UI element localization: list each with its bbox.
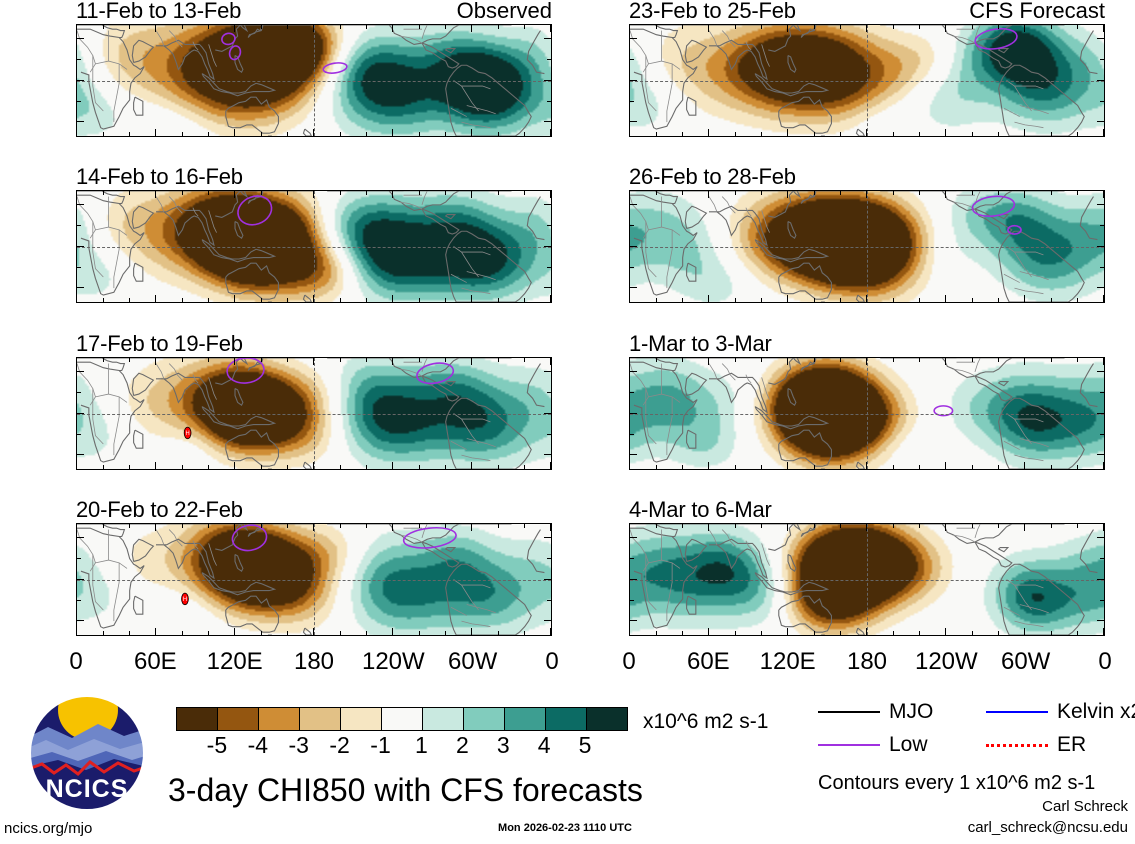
x-tick — [682, 465, 683, 469]
x-tick — [182, 191, 183, 195]
panel-title-p6: 26-Feb to 28-Feb — [629, 164, 796, 190]
author-email: carl_schreck@ncsu.edu — [780, 819, 1128, 836]
x-tick — [1051, 132, 1052, 136]
y-tick — [544, 371, 551, 372]
x-tick — [234, 462, 235, 469]
x-tick — [287, 465, 288, 469]
x-tick — [708, 295, 709, 302]
x-tick — [735, 191, 736, 195]
x-tick — [945, 25, 946, 32]
x-tick — [234, 524, 235, 531]
x-tick — [498, 298, 499, 302]
x-tick — [708, 191, 709, 198]
y-tick — [630, 267, 634, 268]
x-tick — [208, 25, 209, 29]
map-canvas-p4: H — [77, 524, 551, 635]
x-tick — [392, 295, 393, 302]
x-tick — [682, 524, 683, 528]
x-tick — [840, 465, 841, 469]
dateline — [867, 524, 868, 635]
y-tick — [77, 204, 84, 205]
x-axis-label: 120W — [362, 648, 425, 676]
x-tick — [419, 631, 420, 635]
x-tick — [629, 358, 630, 365]
legend-label: Low — [889, 733, 928, 757]
x-tick — [629, 191, 630, 198]
x-tick — [998, 191, 999, 195]
x-tick — [103, 191, 104, 195]
x-tick — [287, 631, 288, 635]
x-axis-labels-right: 060E120E180120W60W0 — [629, 648, 1105, 678]
y-tick — [77, 579, 84, 580]
y-tick — [1100, 434, 1104, 435]
x-tick — [471, 358, 472, 365]
x-tick — [1077, 191, 1078, 195]
er-contour: H — [184, 427, 191, 439]
y-tick — [77, 620, 84, 621]
y-tick — [630, 204, 637, 205]
low-contour — [1008, 226, 1021, 234]
y-tick — [547, 225, 551, 226]
map-frame-p8 — [629, 523, 1105, 636]
x-tick — [1051, 191, 1052, 195]
dateline — [314, 358, 315, 469]
x-tick — [155, 524, 156, 531]
y-tick — [630, 38, 637, 39]
x-tick — [735, 298, 736, 302]
y-tick — [544, 287, 551, 288]
y-tick — [77, 434, 81, 435]
x-tick — [498, 25, 499, 29]
x-tick — [287, 132, 288, 136]
x-tick — [1077, 298, 1078, 302]
x-tick — [182, 358, 183, 362]
x-tick — [814, 298, 815, 302]
y-tick — [630, 246, 637, 247]
x-tick — [708, 524, 709, 531]
x-tick — [366, 298, 367, 302]
x-tick — [787, 295, 788, 302]
colorbar-tick-label: -5 — [207, 732, 227, 759]
panel-title-p5: 23-Feb to 25-Feb — [629, 0, 796, 24]
x-tick — [1077, 132, 1078, 136]
x-tick — [76, 358, 77, 365]
x-tick — [1024, 295, 1025, 302]
y-tick — [547, 101, 551, 102]
colorbar — [176, 707, 628, 731]
x-axis-label: 0 — [545, 648, 558, 676]
x-axis-label: 120W — [915, 648, 978, 676]
x-tick — [998, 465, 999, 469]
x-tick — [155, 462, 156, 469]
y-tick — [77, 225, 81, 226]
x-tick — [234, 25, 235, 32]
contour-legend: MJOKelvin x2LowER — [818, 700, 1128, 760]
colorbar-tick-label: 2 — [456, 732, 469, 759]
x-tick — [261, 25, 262, 29]
x-tick — [893, 631, 894, 635]
x-tick — [524, 358, 525, 362]
y-tick — [1097, 38, 1104, 39]
x-tick — [498, 631, 499, 635]
x-tick — [919, 524, 920, 528]
x-tick — [840, 25, 841, 29]
x-tick — [629, 25, 630, 32]
y-tick — [544, 413, 551, 414]
x-tick — [629, 462, 630, 469]
x-tick — [103, 132, 104, 136]
y-tick — [630, 413, 637, 414]
y-tick — [1100, 392, 1104, 393]
x-tick — [735, 524, 736, 528]
colorbar-tick-labels: -5-4-3-2-112345 — [176, 732, 626, 758]
x-tick — [656, 631, 657, 635]
x-tick — [129, 631, 130, 635]
x-tick — [471, 25, 472, 32]
x-tick — [814, 358, 815, 362]
map-panel-p5: 23-Feb to 25-FebCFS Forecast — [629, 24, 1105, 137]
x-tick — [313, 628, 314, 635]
x-tick — [129, 358, 130, 362]
x-tick — [1051, 465, 1052, 469]
x-tick — [419, 358, 420, 362]
x-tick — [708, 462, 709, 469]
x-axis-label: 60W — [448, 648, 497, 676]
x-tick — [972, 25, 973, 29]
x-tick — [1024, 628, 1025, 635]
x-tick — [735, 358, 736, 362]
x-tick — [392, 25, 393, 32]
y-tick — [547, 267, 551, 268]
x-tick — [498, 524, 499, 528]
y-tick — [1097, 454, 1104, 455]
x-axis-label: 60E — [134, 648, 177, 676]
x-tick — [840, 298, 841, 302]
main-title: 3-day CHI850 with CFS forecasts — [168, 772, 643, 809]
x-tick — [445, 132, 446, 136]
x-tick — [445, 191, 446, 195]
y-tick — [1097, 371, 1104, 372]
x-tick — [550, 628, 551, 635]
y-tick — [1097, 620, 1104, 621]
x-tick — [787, 129, 788, 136]
x-tick — [998, 524, 999, 528]
x-tick — [840, 631, 841, 635]
y-tick — [630, 225, 634, 226]
dateline — [867, 358, 868, 469]
y-tick — [1100, 225, 1104, 226]
y-tick — [77, 101, 81, 102]
x-tick — [656, 465, 657, 469]
y-tick — [77, 413, 84, 414]
x-tick — [208, 358, 209, 362]
x-tick — [313, 25, 314, 32]
x-tick — [76, 295, 77, 302]
er-contour: H — [182, 593, 189, 605]
x-tick — [682, 298, 683, 302]
x-tick — [1024, 191, 1025, 198]
x-tick — [629, 129, 630, 136]
x-tick — [208, 465, 209, 469]
x-tick — [524, 465, 525, 469]
x-tick — [998, 132, 999, 136]
x-tick — [419, 191, 420, 195]
map-frame-p4: H — [76, 523, 552, 636]
y-tick — [77, 246, 84, 247]
x-tick — [787, 25, 788, 32]
x-tick — [656, 191, 657, 195]
x-tick — [261, 358, 262, 362]
y-tick — [630, 579, 637, 580]
x-tick — [998, 25, 999, 29]
x-tick — [155, 628, 156, 635]
x-tick — [129, 132, 130, 136]
x-tick — [893, 25, 894, 29]
y-tick — [77, 287, 84, 288]
x-axis-label: 120E — [207, 648, 263, 676]
x-tick — [550, 25, 551, 32]
x-tick — [261, 298, 262, 302]
x-tick — [893, 298, 894, 302]
y-tick — [1100, 59, 1104, 60]
x-tick — [234, 191, 235, 198]
low-contour — [323, 61, 348, 74]
dateline — [314, 25, 315, 136]
x-tick — [972, 524, 973, 528]
x-tick — [182, 25, 183, 29]
x-tick — [1077, 25, 1078, 29]
x-tick — [103, 631, 104, 635]
x-tick — [366, 631, 367, 635]
x-tick — [629, 295, 630, 302]
colorbar-unit-label: x10^6 m2 s-1 — [643, 710, 768, 734]
svg-text:H: H — [186, 431, 190, 437]
x-tick — [340, 465, 341, 469]
x-tick — [814, 465, 815, 469]
x-tick — [972, 465, 973, 469]
x-tick — [76, 191, 77, 198]
x-tick — [445, 465, 446, 469]
y-tick — [630, 454, 637, 455]
x-tick — [392, 628, 393, 635]
x-tick — [945, 129, 946, 136]
x-tick — [893, 465, 894, 469]
x-tick — [682, 25, 683, 29]
x-tick — [919, 25, 920, 29]
map-canvas-p7 — [630, 358, 1104, 469]
x-tick — [392, 524, 393, 531]
x-tick — [155, 129, 156, 136]
map-frame-p7 — [629, 357, 1105, 470]
dateline — [314, 524, 315, 635]
x-tick — [893, 524, 894, 528]
y-tick — [630, 600, 634, 601]
y-tick — [544, 204, 551, 205]
map-canvas-p1 — [77, 25, 551, 136]
map-frame-p2 — [76, 190, 552, 303]
y-tick — [544, 620, 551, 621]
x-tick — [129, 298, 130, 302]
column-header-forecast: CFS Forecast — [969, 0, 1105, 24]
map-canvas-p5 — [630, 25, 1104, 136]
x-tick — [287, 25, 288, 29]
x-tick — [419, 25, 420, 29]
ncics-logo: NCICS — [28, 694, 146, 812]
x-tick — [814, 132, 815, 136]
y-tick — [630, 537, 637, 538]
x-tick — [76, 129, 77, 136]
x-tick — [208, 631, 209, 635]
dateline — [314, 191, 315, 302]
y-tick — [544, 80, 551, 81]
y-tick — [77, 371, 84, 372]
x-tick — [419, 298, 420, 302]
x-tick — [76, 25, 77, 32]
x-tick — [919, 465, 920, 469]
x-tick — [656, 132, 657, 136]
y-tick — [630, 371, 637, 372]
x-tick — [445, 358, 446, 362]
x-tick — [1051, 358, 1052, 362]
x-tick — [366, 358, 367, 362]
x-axis-label: 60E — [687, 648, 730, 676]
x-tick — [392, 358, 393, 365]
x-tick — [103, 25, 104, 29]
x-tick — [1103, 628, 1104, 635]
x-tick — [682, 358, 683, 362]
map-canvas-p8 — [630, 524, 1104, 635]
y-tick — [1097, 579, 1104, 580]
x-tick — [313, 295, 314, 302]
x-tick — [524, 132, 525, 136]
map-panel-p1: 11-Feb to 13-FebObserved30N030S — [76, 24, 552, 137]
x-tick — [1024, 462, 1025, 469]
ncics-logo-icon: NCICS — [28, 694, 146, 812]
x-tick — [814, 191, 815, 195]
panel-title-p1: 11-Feb to 13-Feb — [76, 0, 241, 24]
x-tick — [340, 524, 341, 528]
x-tick — [550, 524, 551, 531]
x-tick — [155, 358, 156, 365]
x-tick — [155, 191, 156, 198]
x-tick — [972, 358, 973, 362]
x-axis-label: 180 — [294, 648, 334, 676]
x-tick — [524, 191, 525, 195]
x-tick — [787, 524, 788, 531]
x-axis-label: 60W — [1001, 648, 1050, 676]
colorbar-tick-label: 5 — [579, 732, 592, 759]
x-tick — [866, 628, 867, 635]
y-tick — [77, 392, 81, 393]
x-tick — [234, 628, 235, 635]
x-tick — [155, 25, 156, 32]
x-tick — [182, 298, 183, 302]
x-tick — [313, 129, 314, 136]
colorbar-segment — [504, 708, 545, 730]
x-tick — [761, 465, 762, 469]
x-tick — [945, 462, 946, 469]
x-tick — [208, 524, 209, 528]
x-tick — [866, 358, 867, 365]
svg-text:H: H — [183, 597, 187, 603]
low-contour — [234, 192, 275, 230]
x-tick — [76, 628, 77, 635]
y-tick — [77, 537, 84, 538]
low-contour — [971, 194, 1015, 218]
legend-item-er: ER — [986, 733, 1086, 757]
x-tick — [840, 524, 841, 528]
x-tick — [735, 631, 736, 635]
x-tick — [1103, 524, 1104, 531]
colorbar-segment — [381, 708, 422, 730]
x-tick — [945, 295, 946, 302]
x-tick — [761, 132, 762, 136]
x-tick — [1103, 25, 1104, 32]
x-tick — [340, 191, 341, 195]
legend-swatch — [986, 711, 1048, 713]
x-tick — [524, 298, 525, 302]
x-tick — [629, 628, 630, 635]
x-tick — [840, 132, 841, 136]
y-tick — [547, 600, 551, 601]
colorbar-segment — [217, 708, 258, 730]
x-tick — [972, 298, 973, 302]
x-axis-labels-left: 060E120E180120W60W0 — [76, 648, 552, 678]
x-tick — [972, 191, 973, 195]
colorbar-segment — [177, 708, 217, 730]
colorbar-segment — [586, 708, 627, 730]
colorbar-segment — [422, 708, 463, 730]
svg-text:NCICS: NCICS — [46, 775, 129, 803]
x-tick — [1103, 129, 1104, 136]
x-tick — [76, 462, 77, 469]
x-tick — [313, 462, 314, 469]
x-tick — [735, 132, 736, 136]
y-tick — [544, 246, 551, 247]
x-tick — [366, 132, 367, 136]
x-tick — [340, 358, 341, 362]
legend-item-mjo: MJO — [818, 700, 933, 724]
y-tick — [544, 38, 551, 39]
x-tick — [366, 25, 367, 29]
y-tick — [630, 121, 637, 122]
x-tick — [1051, 25, 1052, 29]
x-tick — [445, 25, 446, 29]
site-url-label: ncics.org/mjo — [4, 820, 92, 837]
x-tick — [1051, 524, 1052, 528]
legend-item-low: Low — [818, 733, 928, 757]
y-tick — [77, 59, 81, 60]
x-tick — [919, 132, 920, 136]
y-tick — [1097, 204, 1104, 205]
x-tick — [340, 25, 341, 29]
y-tick — [630, 620, 637, 621]
x-axis-label: 180 — [847, 648, 887, 676]
x-axis-label: 0 — [1098, 648, 1111, 676]
x-tick — [234, 295, 235, 302]
x-tick — [814, 25, 815, 29]
x-tick — [498, 191, 499, 195]
colorbar-tick-label: -2 — [329, 732, 349, 759]
x-tick — [866, 25, 867, 32]
x-tick — [261, 631, 262, 635]
x-tick — [919, 631, 920, 635]
x-tick — [998, 298, 999, 302]
x-tick — [866, 524, 867, 531]
x-tick — [761, 358, 762, 362]
colorbar-tick-label: 3 — [497, 732, 510, 759]
x-tick — [735, 465, 736, 469]
